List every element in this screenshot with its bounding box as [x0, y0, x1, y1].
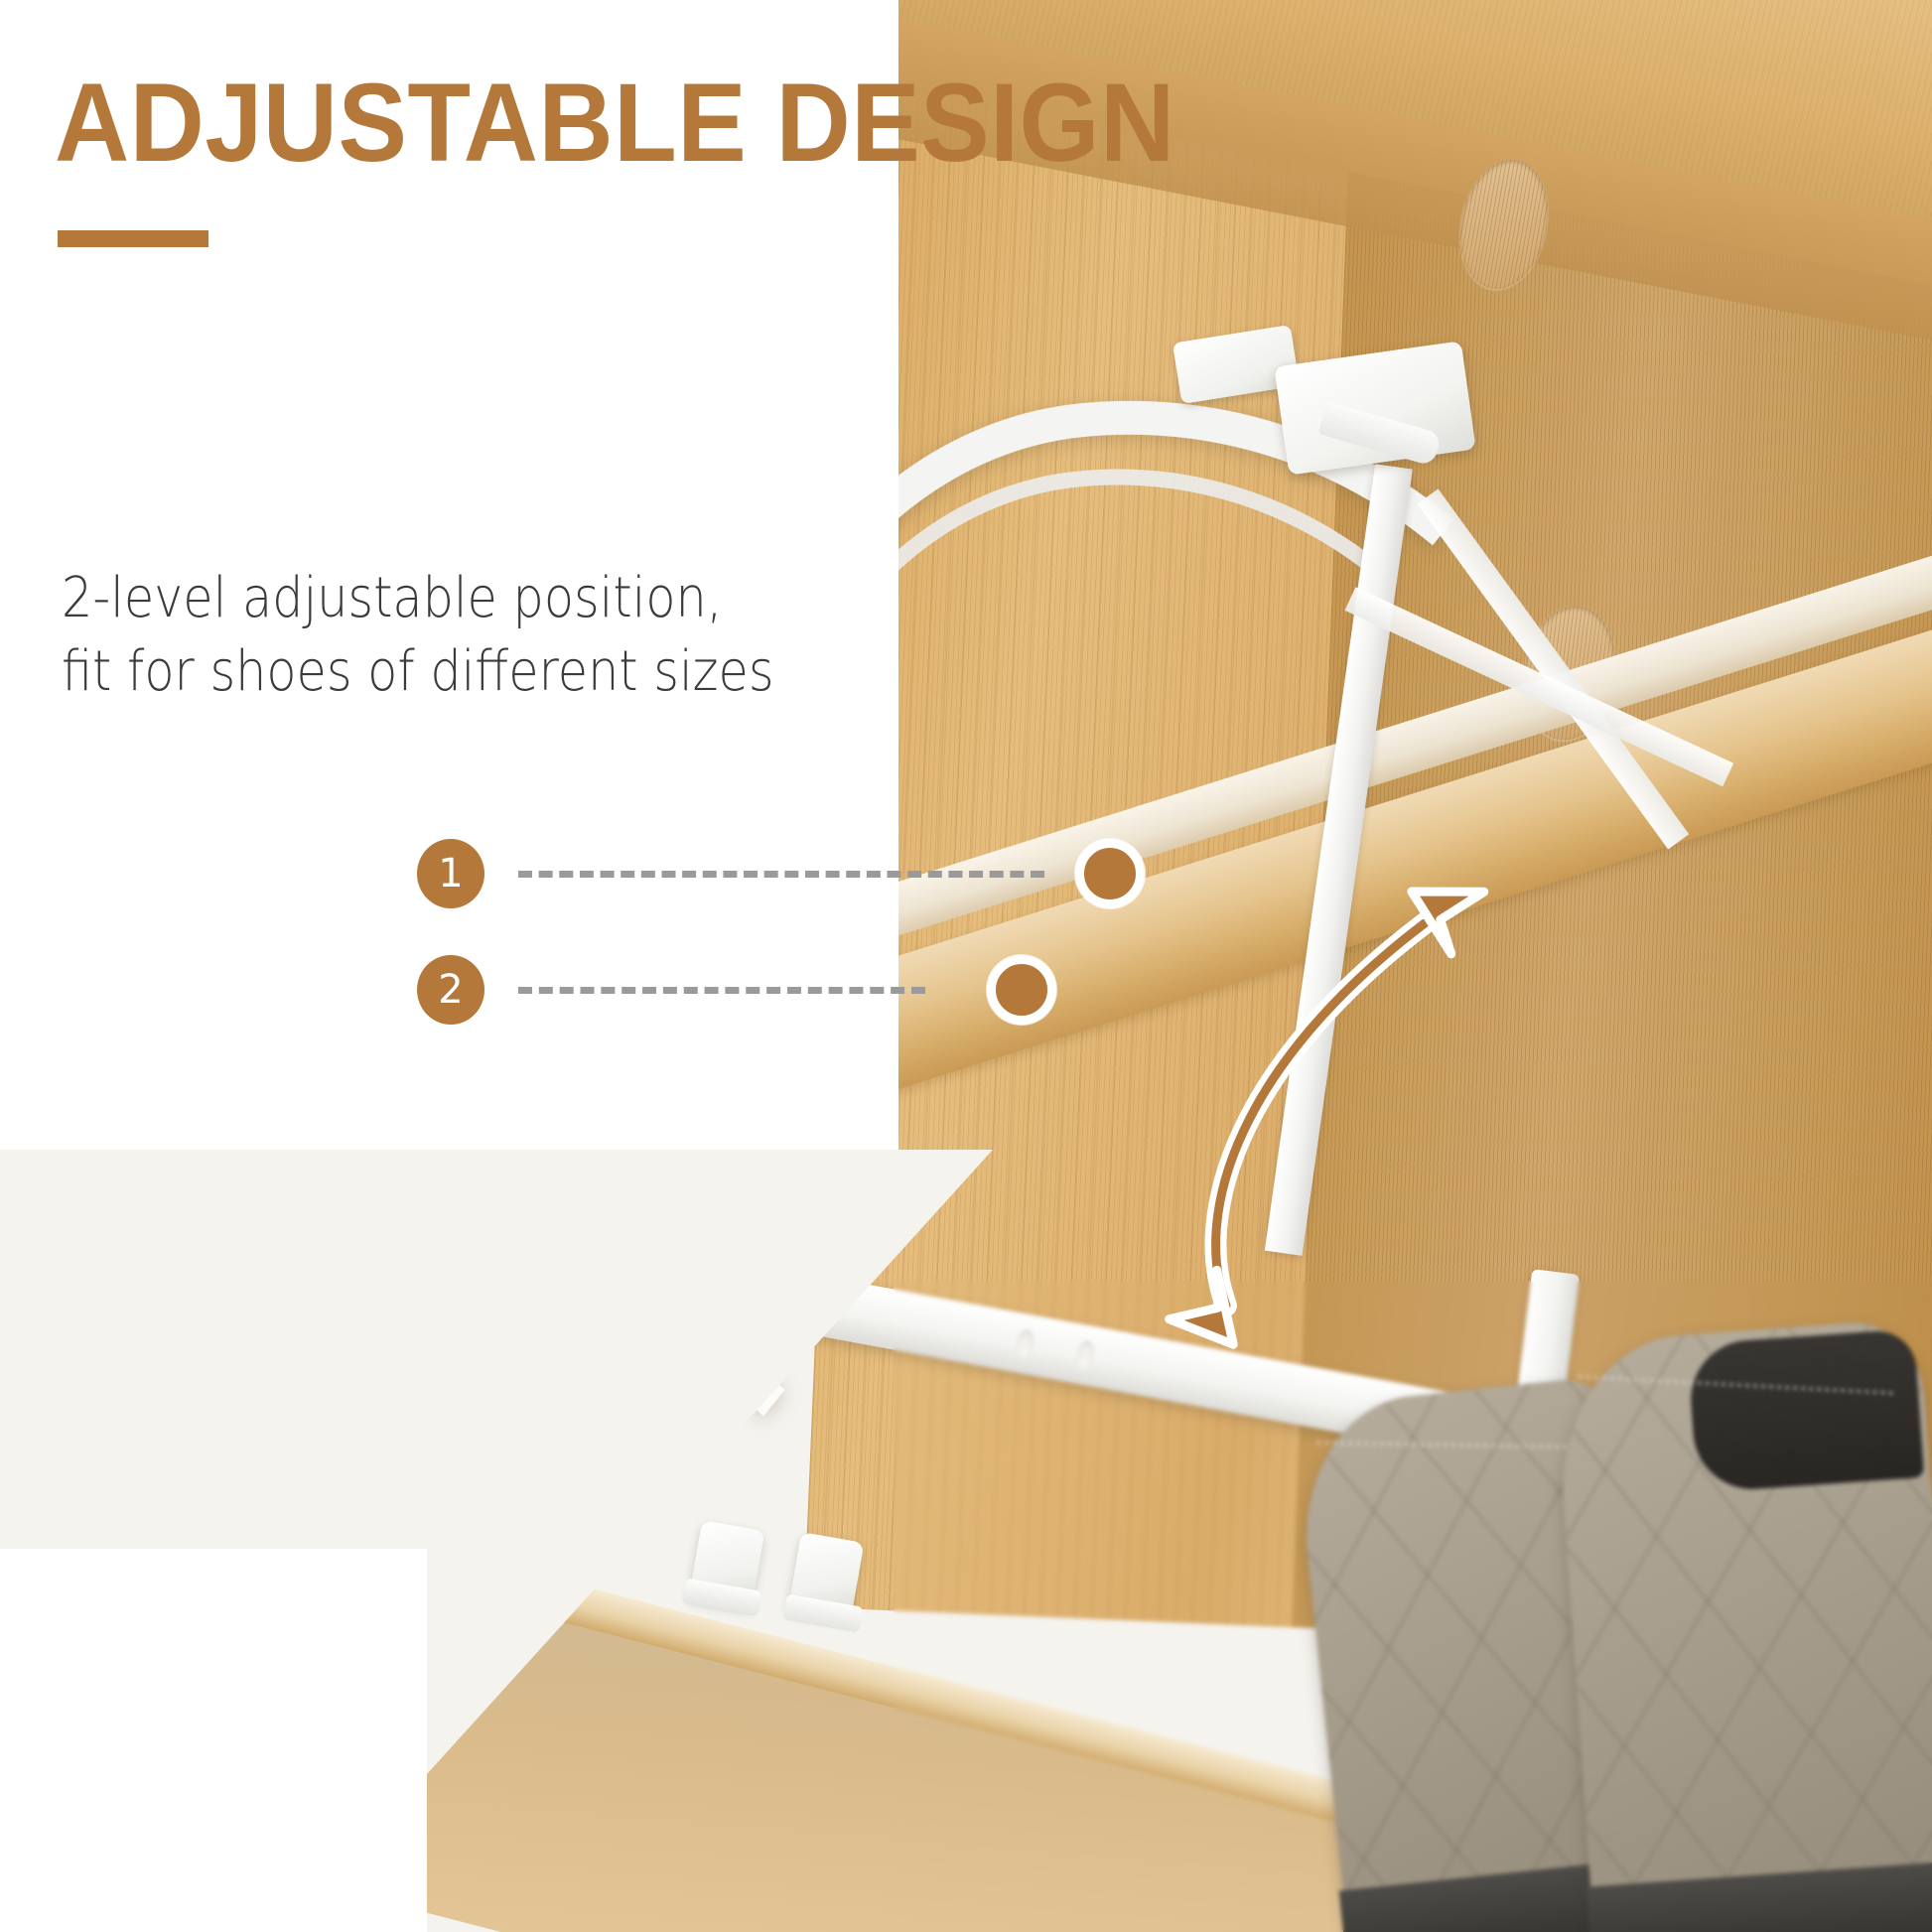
- callout-level-2: 2: [417, 955, 925, 1025]
- double-headed-curved-arrow: [1132, 854, 1549, 1350]
- subtitle-text: 2-level adjustable position, fit for sho…: [62, 562, 774, 709]
- callout-level-1: 1: [417, 839, 1044, 908]
- product-feature-banner: ADJUSTABLE DESIGN 2-level adjustable pos…: [0, 0, 1932, 1932]
- page-title: ADJUSTABLE DESIGN: [55, 68, 1175, 179]
- bottom-left-mask: [0, 1549, 427, 1932]
- callout-badge-2: 2: [417, 955, 484, 1025]
- callout-dashed-line-2: [518, 987, 925, 994]
- callout-badge-1: 1: [417, 839, 484, 908]
- callout-dashed-line-1: [518, 871, 1044, 878]
- title-underline-rule: [58, 230, 208, 247]
- callout-endpoint-dot-2: [987, 955, 1056, 1025]
